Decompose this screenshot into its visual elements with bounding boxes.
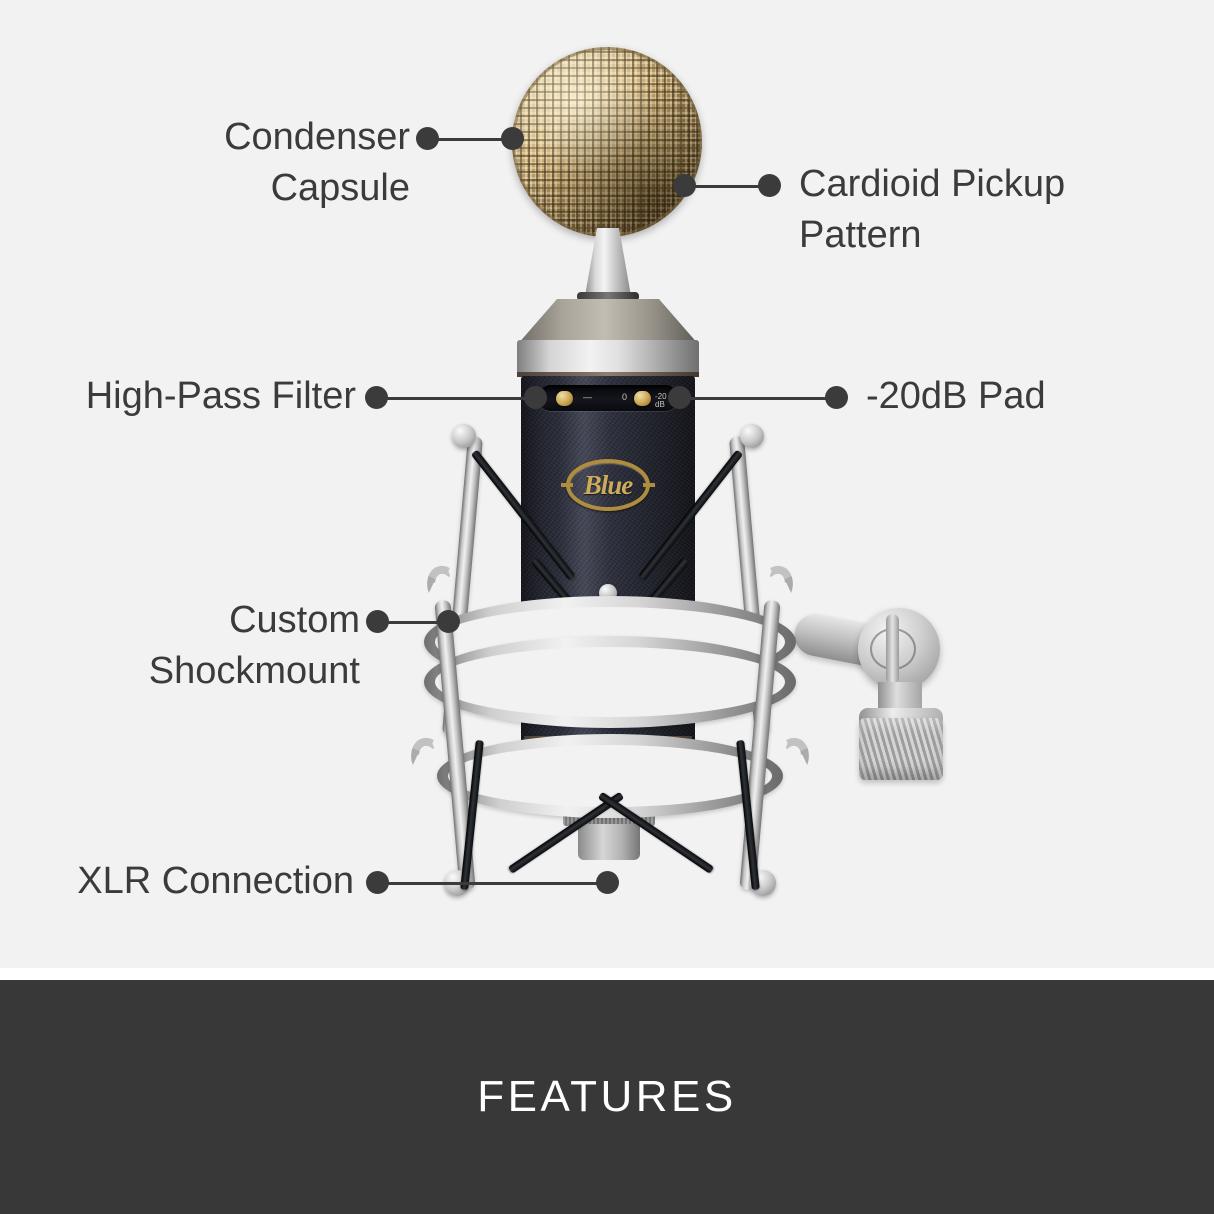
logo-right-bar: [643, 483, 655, 487]
shockmount-hoop-middle: [424, 636, 796, 728]
callout-custom-shockmount: Custom Shockmount: [95, 595, 360, 697]
callout-cardioid-pattern-label: Cardioid Pickup Pattern: [799, 159, 1129, 261]
callout-high-pass-filter-label: High-Pass Filter: [38, 371, 356, 422]
pad-off-label: 0: [622, 393, 627, 402]
leader-dot-target-end: [596, 871, 619, 894]
leader-line: [672, 397, 844, 400]
callout-pad: -20dB Pad: [866, 371, 1166, 422]
callout-high-pass-filter: High-Pass Filter: [38, 371, 356, 422]
body-brushed-collar: [517, 340, 699, 374]
leader-dot-target-end: [673, 174, 696, 197]
callout-condenser-capsule-label: Condenser Capsule: [160, 112, 410, 214]
leader-dot-label-end: [416, 127, 439, 150]
leader-dot-target-end: [501, 127, 524, 150]
blue-logo-text: Blue: [584, 470, 633, 501]
mount-thumbscrew[interactable]: [859, 718, 943, 780]
callout-cardioid-pattern: Cardioid Pickup Pattern: [799, 159, 1129, 261]
leader-line: [370, 882, 615, 885]
leader-xlr-connection: [370, 871, 615, 895]
pivot-slot: [886, 614, 899, 684]
leader-line: [369, 397, 543, 400]
leader-dot-label-end: [366, 610, 389, 633]
callout-condenser-capsule: Condenser Capsule: [160, 112, 410, 214]
callout-custom-shockmount-label: Custom Shockmount: [95, 595, 360, 697]
grille-rim: [512, 47, 702, 237]
capsule-stem: [585, 228, 631, 296]
shockmount-hook-lower-left: [405, 733, 444, 765]
leader-dot-label-end: [365, 386, 388, 409]
leader-cardioid-pattern: [677, 174, 777, 198]
callout-xlr-connection: XLR Connection: [32, 856, 354, 907]
high-pass-filter-toggle[interactable]: [556, 391, 573, 406]
leader-condenser-capsule: [420, 127, 520, 151]
leader-custom-shockmount: [370, 610, 456, 634]
mount-pivot-ball[interactable]: [858, 608, 940, 690]
leader-pad: [672, 386, 844, 410]
callout-pad-label: -20dB Pad: [866, 371, 1166, 422]
callout-xlr-connection-label: XLR Connection: [32, 856, 354, 907]
shockmount-hook-upper-right: [759, 561, 798, 593]
shockmount-ball-right-back: [740, 424, 764, 448]
xlr-connector: [578, 824, 640, 860]
features-footer-bar: FEATURES: [0, 980, 1214, 1214]
leader-dot-label-end: [825, 386, 848, 409]
control-switch-panel[interactable]: ⸥ — 0 -20 dB: [538, 385, 678, 411]
shockmount-hook-lower-right: [775, 733, 814, 765]
condenser-capsule-grille: [512, 47, 702, 237]
leader-dot-label-end: [758, 174, 781, 197]
highpass-flat-label: —: [583, 393, 592, 402]
infographic-canvas: ⸥ — 0 -20 dB Blue: [0, 0, 1214, 1214]
shockmount-ball-left-back: [452, 424, 476, 448]
leader-dot-target-end: [668, 386, 691, 409]
body-top-dome: [517, 299, 699, 345]
leader-dot-target-end: [437, 610, 460, 633]
features-footer-title: FEATURES: [477, 1072, 736, 1122]
blue-brand-logo: Blue: [566, 459, 650, 511]
leader-dot-target-end: [524, 386, 547, 409]
diagram-panel: ⸥ — 0 -20 dB Blue: [0, 0, 1214, 968]
leader-dot-label-end: [366, 871, 389, 894]
logo-left-bar: [561, 483, 573, 487]
pad-toggle[interactable]: [634, 391, 651, 406]
leader-high-pass-filter: [369, 386, 543, 410]
